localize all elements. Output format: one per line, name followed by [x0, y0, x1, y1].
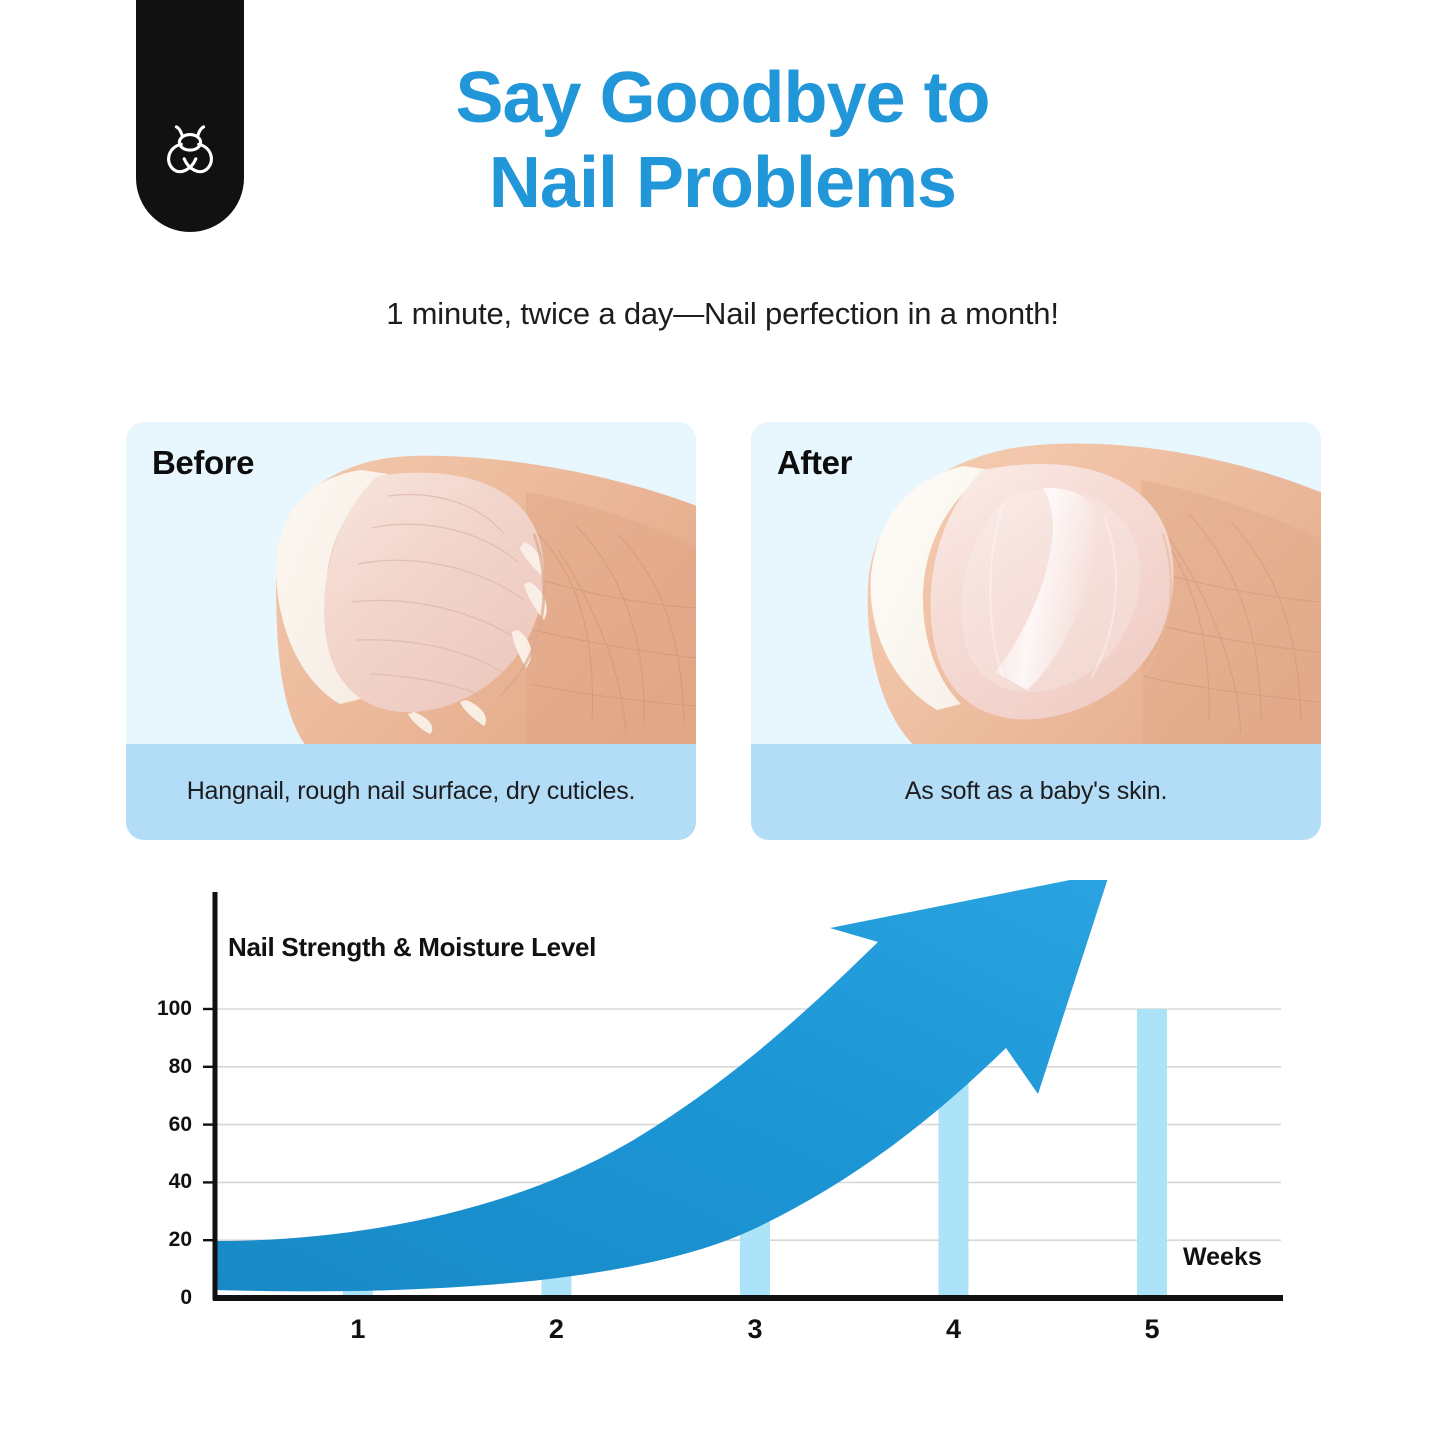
page-subtitle: 1 minute, twice a day—Nail perfection in… — [0, 296, 1445, 332]
chart-y-tick-label: 80 — [130, 1055, 192, 1079]
page-title-line1: Say Goodbye to — [455, 58, 989, 138]
chart-bar — [1137, 1009, 1167, 1298]
before-after-comparison: Before Hangnail, rough nail surface, dry… — [126, 422, 1321, 840]
chart-x-tick-label: 4 — [946, 1314, 961, 1345]
after-label: After — [777, 444, 852, 482]
chart-y-tick-label: 100 — [130, 997, 192, 1021]
chart-y-tick-label: 60 — [130, 1113, 192, 1137]
chart-x-tick-label: 5 — [1144, 1314, 1159, 1345]
chart-y-tick-label: 20 — [130, 1228, 192, 1252]
chart-y-tick-label: 40 — [130, 1170, 192, 1194]
before-label: Before — [152, 444, 254, 482]
before-caption: Hangnail, rough nail surface, dry cuticl… — [126, 744, 696, 840]
page-title-line2: Nail Problems — [489, 143, 956, 223]
page-title: Say Goodbye to Nail Problems — [0, 56, 1445, 226]
chart-title: Nail Strength & Moisture Level — [228, 932, 596, 963]
chart-x-tick-label: 2 — [549, 1314, 564, 1345]
chart-x-tick-label: 1 — [350, 1314, 365, 1345]
before-card: Before Hangnail, rough nail surface, dry… — [126, 422, 696, 840]
chart-y-tick-label: 0 — [130, 1286, 192, 1310]
page-header: Say Goodbye to Nail Problems — [0, 56, 1445, 226]
chart-x-tick-label: 3 — [747, 1314, 762, 1345]
after-caption: As soft as a baby's skin. — [751, 744, 1321, 840]
after-card: After As soft as a baby's skin. — [751, 422, 1321, 840]
chart-x-axis-unit-label: Weeks — [1183, 1243, 1262, 1272]
growth-chart: Nail Strength & Moisture Level 020406080… — [0, 880, 1445, 1310]
